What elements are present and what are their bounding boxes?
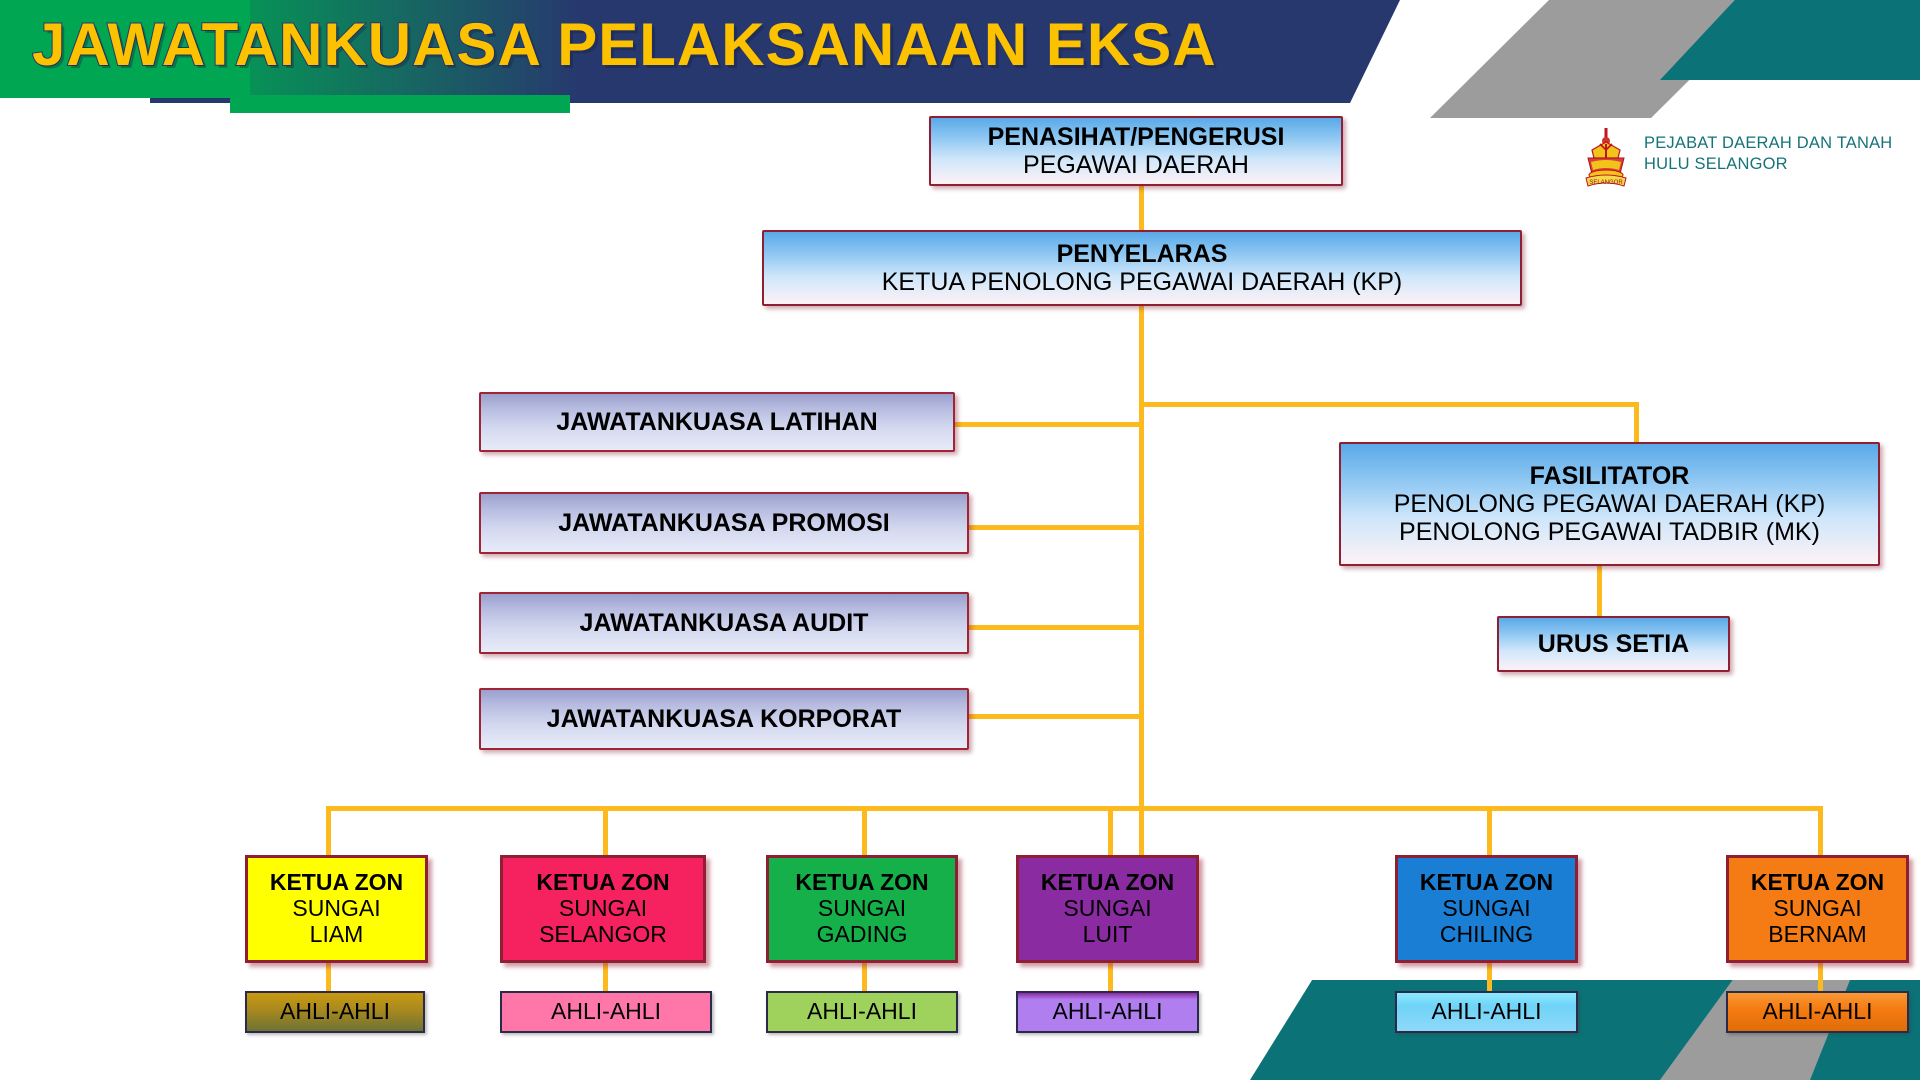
node-chairman-subtitle: PEGAWAI DAERAH — [1023, 151, 1249, 179]
connector-facilitator-secretariat — [1597, 566, 1602, 616]
connector-members-drop-2 — [603, 963, 608, 991]
zone-line3: BERNAM — [1768, 922, 1866, 948]
selangor-crest-icon: SELANGOR — [1578, 128, 1634, 190]
connector-zone-drop-5 — [1487, 806, 1492, 855]
connector-members-drop-6 — [1818, 963, 1823, 991]
node-zone-sungai-luit[interactable]: KETUA ZON SUNGAI LUIT — [1016, 855, 1199, 963]
page-title: JAWATANKUASA PELAKSANAAN EKSA — [32, 10, 1217, 79]
node-facilitator-title: FASILITATOR — [1530, 462, 1690, 490]
connector-committee-3 — [968, 625, 1141, 630]
zone-title: KETUA ZON — [536, 870, 669, 896]
connector-committee-4 — [968, 714, 1141, 719]
connector-zone-bus — [326, 806, 1820, 811]
logo-text: PEJABAT DAERAH DAN TANAH HULU SELANGOR — [1644, 133, 1892, 175]
node-members-luit[interactable]: AHLI-AHLI — [1016, 991, 1199, 1033]
node-committee-promosi[interactable]: JAWATANKUASA PROMOSI — [479, 492, 969, 554]
node-committee-latihan[interactable]: JAWATANKUASA LATIHAN — [479, 392, 955, 452]
committee-label: JAWATANKUASA KORPORAT — [547, 705, 902, 733]
zone-title: KETUA ZON — [1751, 870, 1884, 896]
node-facilitator-line2: PENOLONG PEGAWAI DAERAH (KP) — [1394, 490, 1826, 518]
node-members-bernam[interactable]: AHLI-AHLI — [1726, 991, 1909, 1033]
node-coordinator-subtitle: KETUA PENOLONG PEGAWAI DAERAH (KP) — [882, 268, 1402, 296]
node-secretariat-title: URUS SETIA — [1538, 630, 1689, 658]
node-members-liam[interactable]: AHLI-AHLI — [245, 991, 425, 1033]
node-chairman-title: PENASIHAT/PENGERUSI — [988, 123, 1285, 151]
node-committee-audit[interactable]: JAWATANKUASA AUDIT — [479, 592, 969, 654]
zone-line2: SUNGAI — [818, 896, 906, 922]
connector-committee-1 — [955, 422, 1141, 427]
node-coordinator-title: PENYELARAS — [1057, 240, 1228, 268]
node-chairman[interactable]: PENASIHAT/PENGERUSI PEGAWAI DAERAH — [929, 116, 1343, 186]
connector-members-drop-1 — [326, 963, 331, 991]
connector-facilitator-horizontal — [1139, 402, 1639, 407]
connector-zone-drop-2 — [603, 806, 608, 855]
connector-zone-drop-3 — [862, 806, 867, 855]
zone-line2: SUNGAI — [1442, 896, 1530, 922]
node-committee-korporat[interactable]: JAWATANKUASA KORPORAT — [479, 688, 969, 750]
banner-green-strip — [230, 95, 570, 113]
node-zone-sungai-chiling[interactable]: KETUA ZON SUNGAI CHILING — [1395, 855, 1578, 963]
node-secretariat[interactable]: URUS SETIA — [1497, 616, 1730, 672]
connector-members-drop-5 — [1487, 963, 1492, 991]
connector-members-drop-3 — [862, 963, 867, 991]
svg-text:SELANGOR: SELANGOR — [1589, 180, 1623, 186]
node-members-gading[interactable]: AHLI-AHLI — [766, 991, 958, 1033]
members-label: AHLI-AHLI — [551, 999, 661, 1025]
zone-title: KETUA ZON — [1420, 870, 1553, 896]
connector-committee-2 — [968, 525, 1141, 530]
connector-zone-drop-1 — [326, 806, 331, 855]
committee-label: JAWATANKUASA LATIHAN — [556, 408, 877, 436]
zone-line3: CHILING — [1440, 922, 1533, 948]
node-zone-sungai-bernam[interactable]: KETUA ZON SUNGAI BERNAM — [1726, 855, 1909, 963]
node-zone-sungai-selangor[interactable]: KETUA ZON SUNGAI SELANGOR — [500, 855, 706, 963]
zone-line3: LIAM — [310, 922, 364, 948]
zone-line2: SUNGAI — [559, 896, 647, 922]
zone-line2: SUNGAI — [1773, 896, 1861, 922]
members-label: AHLI-AHLI — [1053, 999, 1163, 1025]
members-label: AHLI-AHLI — [280, 999, 390, 1025]
connector-facilitator-vertical — [1634, 402, 1639, 442]
zone-line2: SUNGAI — [1063, 896, 1151, 922]
zone-title: KETUA ZON — [1041, 870, 1174, 896]
node-zone-sungai-liam[interactable]: KETUA ZON SUNGAI LIAM — [245, 855, 428, 963]
zone-title: KETUA ZON — [270, 870, 403, 896]
connector-chairman-coordinator — [1139, 186, 1144, 230]
organization-logo: SELANGOR PEJABAT DAERAH DAN TANAH HULU S… — [1578, 128, 1908, 192]
node-coordinator[interactable]: PENYELARAS KETUA PENOLONG PEGAWAI DAERAH… — [762, 230, 1522, 306]
node-facilitator-line3: PENOLONG PEGAWAI TADBIR (MK) — [1399, 518, 1820, 546]
org-chart-canvas: JAWATANKUASA PELAKSANAAN EKSA SELANGOR P… — [0, 0, 1920, 1080]
zone-title: KETUA ZON — [795, 870, 928, 896]
connector-members-drop-4 — [1108, 963, 1113, 991]
node-members-chiling[interactable]: AHLI-AHLI — [1395, 991, 1578, 1033]
node-zone-sungai-gading[interactable]: KETUA ZON SUNGAI GADING — [766, 855, 958, 963]
logo-text-line1: PEJABAT DAERAH DAN TANAH — [1644, 133, 1892, 154]
node-facilitator[interactable]: FASILITATOR PENOLONG PEGAWAI DAERAH (KP)… — [1339, 442, 1880, 566]
node-members-selangor[interactable]: AHLI-AHLI — [500, 991, 712, 1033]
connector-zone-drop-4 — [1108, 806, 1113, 855]
connector-zone-drop-6 — [1818, 806, 1823, 855]
zone-line3: SELANGOR — [539, 922, 667, 948]
members-label: AHLI-AHLI — [1432, 999, 1542, 1025]
committee-label: JAWATANKUASA AUDIT — [580, 609, 869, 637]
members-label: AHLI-AHLI — [807, 999, 917, 1025]
logo-text-line2: HULU SELANGOR — [1644, 154, 1892, 175]
zone-line2: SUNGAI — [292, 896, 380, 922]
connector-main-spine — [1139, 305, 1144, 860]
zone-line3: GADING — [817, 922, 908, 948]
zone-line3: LUIT — [1083, 922, 1133, 948]
committee-label: JAWATANKUASA PROMOSI — [558, 509, 890, 537]
members-label: AHLI-AHLI — [1763, 999, 1873, 1025]
